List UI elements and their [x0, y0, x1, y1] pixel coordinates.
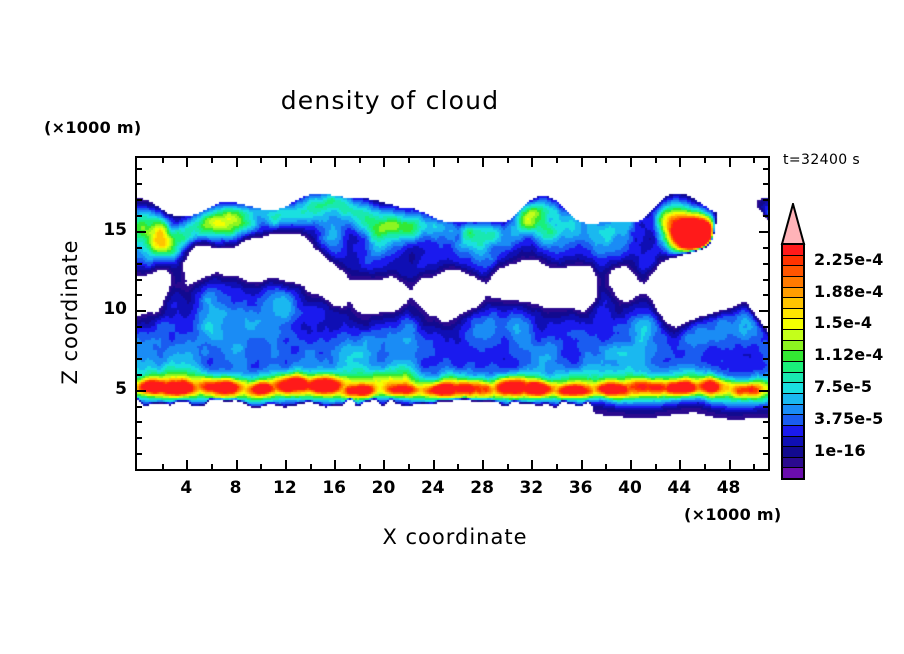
tick-mark — [729, 158, 731, 167]
tick-mark — [531, 460, 533, 469]
tick-mark — [763, 183, 768, 185]
tick-mark — [310, 464, 312, 469]
tick-mark — [137, 231, 146, 233]
tick-mark — [763, 421, 768, 423]
tick-mark — [763, 215, 768, 217]
colorbar-band — [783, 458, 803, 469]
tick-mark — [679, 158, 681, 167]
colorbar-band — [783, 319, 803, 330]
tick-mark — [655, 464, 657, 469]
tick-mark — [763, 199, 768, 201]
tick-mark — [630, 460, 632, 469]
x-tick-label: 12 — [263, 478, 307, 498]
tick-mark — [162, 464, 164, 469]
x-tick-label: 36 — [559, 478, 603, 498]
tick-mark — [137, 279, 142, 281]
tick-mark — [359, 158, 361, 163]
tick-mark — [679, 460, 681, 469]
colorbar — [778, 203, 808, 479]
tick-mark — [310, 158, 312, 163]
tick-mark — [383, 158, 385, 167]
y-axis-title: Z coordinate — [58, 212, 82, 412]
colorbar-tick-label: 3.75e-5 — [814, 409, 884, 428]
x-tick-label: 20 — [361, 478, 405, 498]
tick-mark — [408, 158, 410, 163]
x-tick-label: 48 — [707, 478, 751, 498]
x-tick-label: 8 — [214, 478, 258, 498]
tick-mark — [211, 158, 213, 163]
tick-mark — [137, 199, 142, 201]
tick-mark — [137, 168, 142, 170]
tick-mark — [359, 464, 361, 469]
colorbar-band — [783, 351, 803, 362]
x-axis-title: X coordinate — [255, 525, 655, 549]
tick-mark — [457, 158, 459, 163]
colorbar-tick-label: 1.5e-4 — [814, 313, 872, 332]
tick-mark — [482, 158, 484, 167]
tick-mark — [729, 460, 731, 469]
chart-title: density of cloud — [0, 86, 780, 115]
tick-mark — [137, 421, 142, 423]
tick-mark — [763, 247, 768, 249]
tick-mark — [763, 326, 768, 328]
colorbar-tick-label: 7.5e-5 — [814, 377, 872, 396]
tick-mark — [753, 464, 755, 469]
tick-mark — [763, 406, 768, 408]
tick-mark — [556, 158, 558, 163]
tick-mark — [763, 168, 768, 170]
tick-mark — [236, 460, 238, 469]
x-tick-label: 28 — [460, 478, 504, 498]
colorbar-band — [783, 245, 803, 256]
tick-mark — [137, 453, 142, 455]
tick-mark — [759, 231, 768, 233]
colorbar-band — [783, 277, 803, 288]
figure-canvas: density of cloud (×1000 m) (×1000 m) t=3… — [0, 0, 904, 654]
colorbar-arrow-icon — [778, 203, 808, 245]
colorbar-band — [783, 468, 803, 478]
tick-mark — [763, 279, 768, 281]
colorbar-band — [783, 309, 803, 320]
colorbar-bands — [781, 243, 805, 480]
colorbar-band — [783, 266, 803, 277]
plot-area — [135, 156, 770, 471]
tick-mark — [137, 294, 142, 296]
tick-mark — [137, 374, 142, 376]
tick-mark — [334, 460, 336, 469]
tick-mark — [556, 464, 558, 469]
tick-mark — [383, 460, 385, 469]
tick-mark — [433, 158, 435, 167]
y-tick-label: 15 — [87, 220, 127, 240]
colorbar-band — [783, 394, 803, 405]
y-tick-label: 10 — [87, 299, 127, 319]
tick-mark — [260, 158, 262, 163]
colorbar-tick-label: 2.25e-4 — [814, 250, 884, 269]
tick-mark — [211, 464, 213, 469]
cloud-density-field — [137, 158, 768, 469]
tick-mark — [605, 158, 607, 163]
y-axis-unit-label: (×1000 m) — [44, 118, 142, 137]
x-tick-label: 32 — [509, 478, 553, 498]
colorbar-band — [783, 341, 803, 352]
tick-mark — [236, 158, 238, 167]
tick-mark — [630, 158, 632, 167]
tick-mark — [763, 453, 768, 455]
colorbar-band — [783, 415, 803, 426]
colorbar-band — [783, 437, 803, 448]
tick-mark — [137, 342, 142, 344]
tick-mark — [581, 158, 583, 167]
x-tick-label: 24 — [411, 478, 455, 498]
tick-mark — [763, 342, 768, 344]
tick-mark — [763, 294, 768, 296]
tick-mark — [763, 374, 768, 376]
tick-mark — [759, 390, 768, 392]
tick-mark — [704, 464, 706, 469]
time-annotation: t=32400 s — [783, 152, 860, 168]
tick-mark — [186, 158, 188, 167]
tick-mark — [457, 464, 459, 469]
colorbar-band — [783, 288, 803, 299]
colorbar-band — [783, 362, 803, 373]
tick-mark — [753, 158, 755, 163]
tick-mark — [433, 460, 435, 469]
x-tick-label: 4 — [164, 478, 208, 498]
x-tick-label: 40 — [608, 478, 652, 498]
tick-mark — [137, 326, 142, 328]
tick-mark — [763, 358, 768, 360]
tick-mark — [137, 183, 142, 185]
tick-mark — [704, 158, 706, 163]
x-tick-label: 16 — [312, 478, 356, 498]
colorbar-band — [783, 298, 803, 309]
colorbar-band — [783, 426, 803, 437]
tick-mark — [334, 158, 336, 167]
x-tick-label: 44 — [657, 478, 701, 498]
tick-mark — [137, 390, 146, 392]
colorbar-band — [783, 373, 803, 384]
colorbar-tick-label: 1.88e-4 — [814, 282, 884, 301]
tick-mark — [162, 158, 164, 163]
tick-mark — [137, 437, 142, 439]
y-tick-label: 5 — [87, 379, 127, 399]
tick-mark — [507, 158, 509, 163]
tick-mark — [137, 406, 142, 408]
colorbar-band — [783, 447, 803, 458]
tick-mark — [137, 310, 146, 312]
tick-mark — [285, 158, 287, 167]
colorbar-band — [783, 383, 803, 394]
tick-mark — [137, 263, 142, 265]
tick-mark — [763, 437, 768, 439]
tick-mark — [655, 158, 657, 163]
tick-mark — [137, 215, 142, 217]
tick-mark — [759, 310, 768, 312]
colorbar-tick-label: 1.12e-4 — [814, 345, 884, 364]
colorbar-band — [783, 330, 803, 341]
x-axis-unit-label: (×1000 m) — [684, 505, 782, 524]
colorbar-band — [783, 256, 803, 267]
tick-mark — [531, 158, 533, 167]
tick-mark — [186, 460, 188, 469]
tick-mark — [408, 464, 410, 469]
tick-mark — [605, 464, 607, 469]
tick-mark — [482, 460, 484, 469]
tick-mark — [763, 263, 768, 265]
tick-mark — [285, 460, 287, 469]
tick-mark — [507, 464, 509, 469]
colorbar-band — [783, 405, 803, 416]
tick-mark — [137, 247, 142, 249]
colorbar-tick-label: 1e-16 — [814, 441, 866, 460]
tick-mark — [581, 460, 583, 469]
tick-mark — [260, 464, 262, 469]
tick-mark — [137, 358, 142, 360]
